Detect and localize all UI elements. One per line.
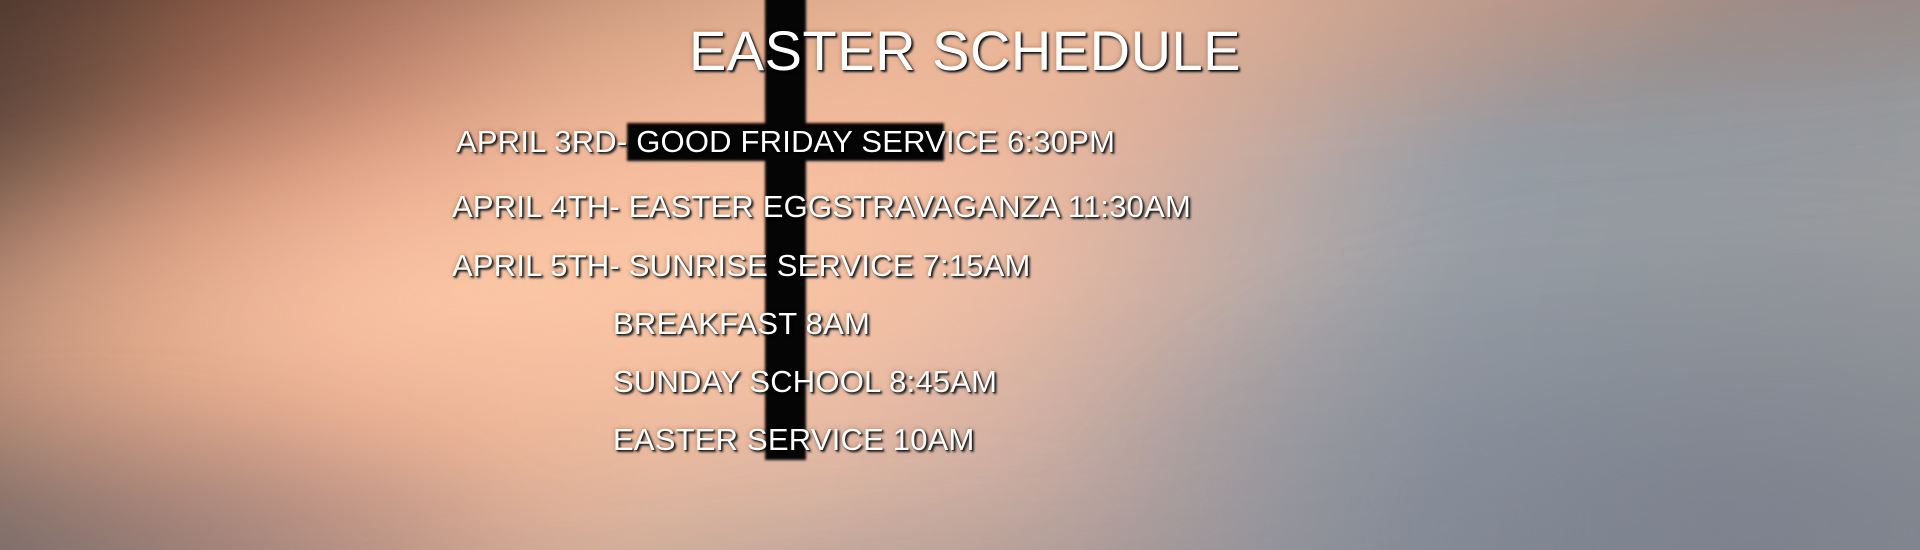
schedule-item-breakfast: BREAKFAST 8AM — [613, 306, 1920, 342]
schedule-item-sunday-school: SUNDAY SCHOOL 8:45AM — [613, 364, 1920, 400]
page-title: EASTER SCHEDULE — [0, 22, 1920, 81]
schedule-item-good-friday: APRIL 3RD- GOOD FRIDAY SERVICE 6:30PM — [456, 124, 1920, 160]
schedule-item-sunrise-service: APRIL 5TH- SUNRISE SERVICE 7:15AM — [452, 248, 1920, 284]
schedule-item-eggstravaganza: APRIL 4TH- EASTER EGGSTRAVAGANZA 11:30AM — [452, 189, 1920, 225]
easter-schedule-banner: EASTER SCHEDULE APRIL 3RD- GOOD FRIDAY S… — [0, 0, 1920, 550]
banner-content: EASTER SCHEDULE APRIL 3RD- GOOD FRIDAY S… — [0, 0, 1920, 550]
schedule-item-easter-service: EASTER SERVICE 10AM — [613, 422, 1920, 458]
schedule-list: APRIL 3RD- GOOD FRIDAY SERVICE 6:30PM AP… — [0, 120, 1920, 458]
